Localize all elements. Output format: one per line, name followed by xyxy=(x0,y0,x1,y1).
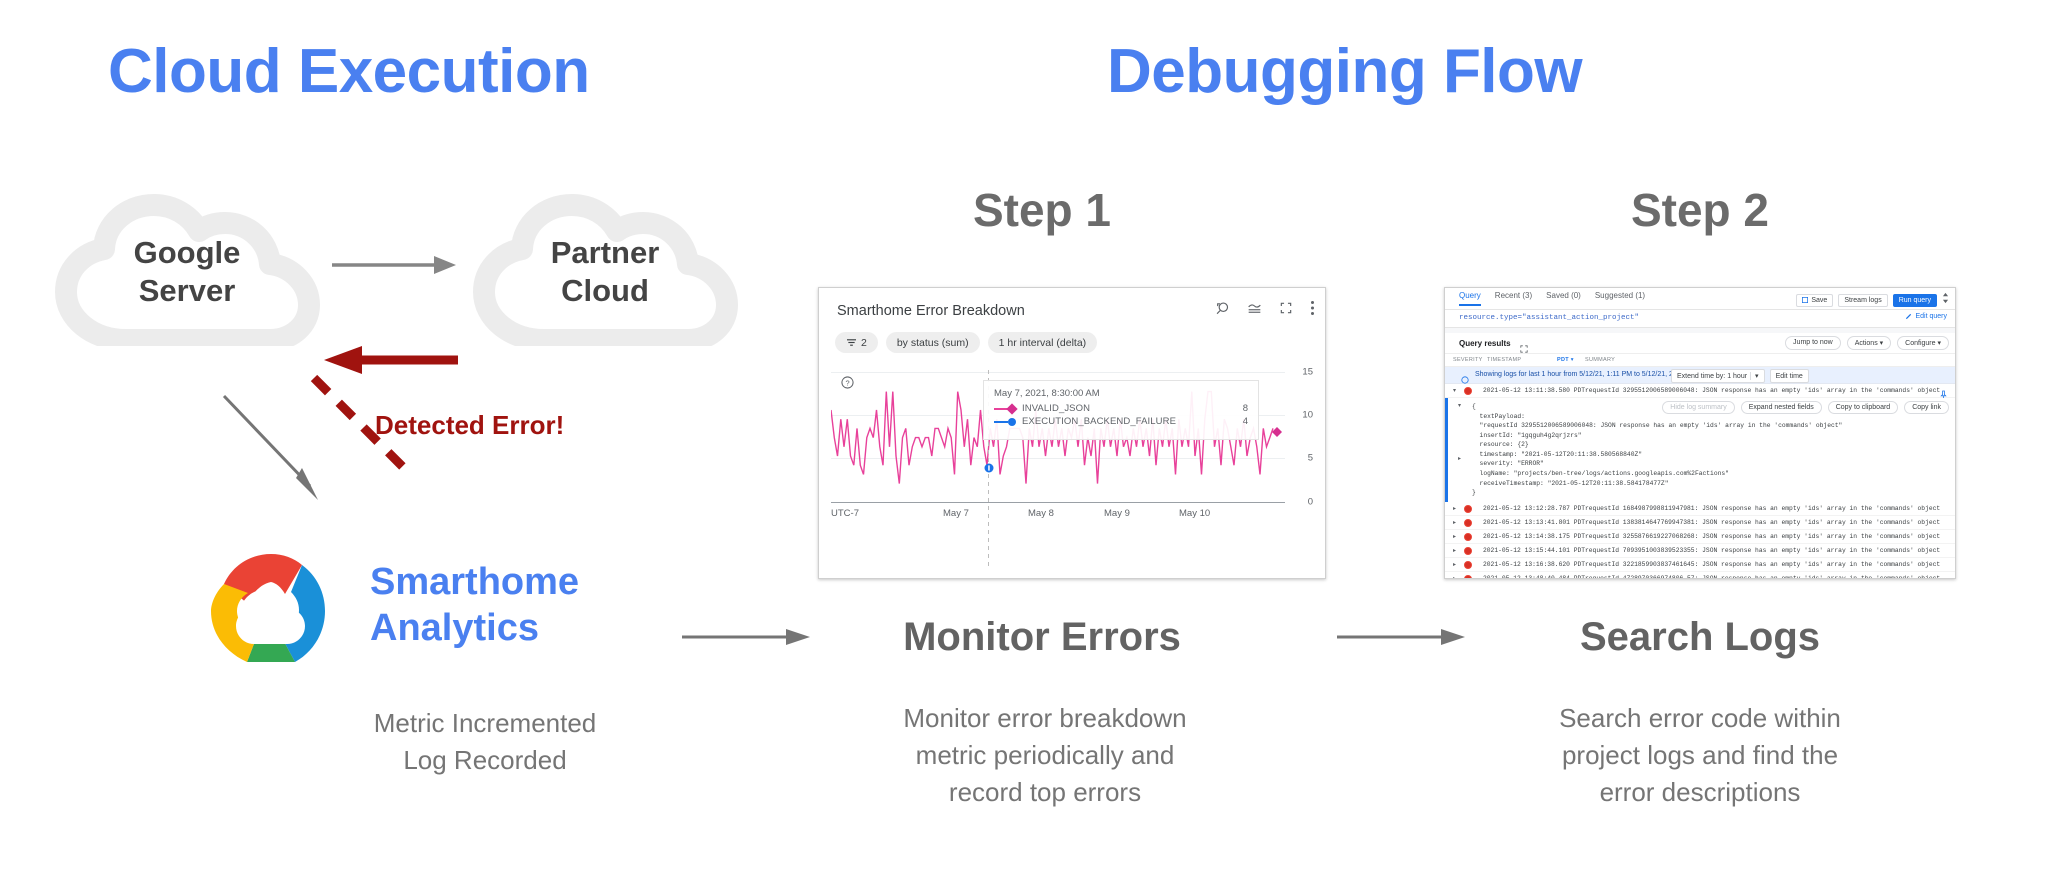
query-results-actions: Jump to now Actions ▾ Configure ▾ xyxy=(1785,336,1949,350)
arrow-analytics-to-monitor xyxy=(680,625,815,649)
node-1-caption-line2: Log Recorded xyxy=(300,742,670,779)
chart-point-execution-backend-failure xyxy=(983,462,995,474)
save-button-label: Save xyxy=(1811,297,1827,304)
edit-query-button[interactable]: Edit query xyxy=(1905,313,1947,320)
chip-interval[interactable]: 1 hr interval (delta) xyxy=(988,332,1098,353)
chevron-right-icon[interactable]: ▸ xyxy=(1453,547,1456,554)
step-2-heading: Step 2 xyxy=(1570,183,1830,237)
node-1-title-line2: Analytics xyxy=(370,606,579,652)
partner-cloud-line2: Cloud xyxy=(561,272,649,310)
reset-zoom-icon[interactable] xyxy=(1215,301,1230,316)
partner-cloud-line1: Partner xyxy=(551,234,660,272)
y-tick-0: 0 xyxy=(1308,497,1313,508)
filter-icon xyxy=(846,338,857,347)
log-detail-json: { textPayload: "requestId 32955120065890… xyxy=(1448,402,1955,498)
actions-dropdown[interactable]: Actions ▾ xyxy=(1847,336,1891,350)
x-tick-utc: UTC-7 xyxy=(831,508,859,519)
edit-query-label: Edit query xyxy=(1915,313,1947,320)
edit-time-button[interactable]: Edit time xyxy=(1770,369,1809,383)
resource-expand-toggle[interactable]: ▸ xyxy=(1458,455,1461,462)
partner-cloud-label: Partner Cloud xyxy=(470,194,740,346)
chevron-right-icon[interactable]: ▸ xyxy=(1453,575,1456,579)
x-tick-may-9: May 9 xyxy=(1104,508,1130,519)
query-text: resource.type="assistant_action_project" xyxy=(1459,314,1639,322)
chevron-right-icon[interactable]: ▸ xyxy=(1453,533,1456,540)
partner-cloud-cloud: Partner Cloud xyxy=(470,194,740,346)
node-3-caption: Search error code within project logs an… xyxy=(1515,700,1885,811)
chevron-down-icon: ▾ xyxy=(1937,340,1941,347)
severity-error-icon xyxy=(1464,575,1472,579)
logs-tabbar: Query Recent (3) Saved (0) Suggested (1)… xyxy=(1445,288,1955,310)
json-collapse-toggle[interactable]: ▾ xyxy=(1458,402,1461,409)
configure-dropdown[interactable]: Configure ▾ xyxy=(1897,336,1949,350)
severity-error-icon xyxy=(1464,533,1472,541)
tooltip-value-execution-backend-failure: 4 xyxy=(1232,416,1248,427)
chart-title: Smarthome Error Breakdown xyxy=(837,303,1025,319)
tooltip-name-execution-backend-failure: EXECUTION_BACKEND_FAILURE xyxy=(1022,416,1232,427)
banner-buttons: Extend time by: 1 hour ▾ Edit time xyxy=(1671,369,1809,383)
save-icon xyxy=(1802,297,1808,303)
severity-error-icon xyxy=(1464,387,1472,395)
query-results-bar: Query results Jump to now Actions ▾ Conf… xyxy=(1445,333,1955,354)
log-detail-actions: Hide log summary Expand nested fields Co… xyxy=(1662,401,1949,414)
google-server-line2: Server xyxy=(139,272,236,310)
table-row[interactable]: ▸2021-05-12 13:12:28.787 PDTrequestId 16… xyxy=(1445,502,1955,516)
table-row[interactable]: ▸2021-05-12 13:13:41.801 PDTrequestId 13… xyxy=(1445,516,1955,530)
tab-recent[interactable]: Recent (3) xyxy=(1495,291,1532,306)
chevron-down-icon: ▾ xyxy=(1880,340,1884,347)
severity-error-icon xyxy=(1464,519,1472,527)
node-2-caption-line1: Monitor error breakdown xyxy=(860,700,1230,737)
google-server-line1: Google xyxy=(134,234,241,272)
jump-to-now-button[interactable]: Jump to now xyxy=(1785,336,1841,350)
save-button[interactable]: Save xyxy=(1796,294,1833,307)
table-row[interactable]: ▸2021-05-12 13:14:38.175 PDTrequestId 32… xyxy=(1445,530,1955,544)
column-severity: SEVERITY xyxy=(1453,357,1483,363)
log-table-column-headers: SEVERITY TIMESTAMP PDT ▾ SUMMARY xyxy=(1445,354,1955,367)
table-row[interactable]: ▸2021-05-12 13:16:38.620 PDTrequestId 32… xyxy=(1445,558,1955,572)
log-summary: requestId 3295512006589006048: JSON resp… xyxy=(1585,387,1940,394)
more-options-icon[interactable] xyxy=(1310,300,1315,316)
severity-error-icon xyxy=(1464,505,1472,513)
page-title-cloud-execution: Cloud Execution xyxy=(108,36,590,107)
logs-action-buttons: Save Stream logs Run query xyxy=(1796,291,1949,309)
chart-chips: 2 by status (sum) 1 hr interval (delta) xyxy=(835,332,1097,353)
legend-swatch-execution-backend-failure xyxy=(994,417,1016,427)
query-editor-row[interactable]: resource.type="assistant_action_project"… xyxy=(1445,310,1955,328)
severity-error-icon xyxy=(1464,547,1472,555)
google-cloud-logo-icon xyxy=(205,548,337,676)
chip-interval-label: 1 hr interval (delta) xyxy=(999,337,1087,349)
extend-time-button[interactable]: Extend time by: 1 hour ▾ xyxy=(1671,369,1765,383)
tab-query[interactable]: Query xyxy=(1459,291,1481,306)
chart-tooltip: May 7, 2021, 8:30:00 AM INVALID_JSON 8 E… xyxy=(983,380,1259,440)
hide-log-summary-button[interactable]: Hide log summary xyxy=(1662,401,1734,414)
x-axis-line xyxy=(831,502,1285,503)
expand-nested-fields-button[interactable]: Expand nested fields xyxy=(1741,401,1822,414)
chip-filter-count[interactable]: 2 xyxy=(835,332,878,353)
node-1-caption: Metric Incremented Log Recorded xyxy=(300,705,670,779)
google-server-cloud: Google Server xyxy=(52,194,322,346)
log-timestamp: 2021-05-12 13:16:38.620 PDT xyxy=(1483,561,1585,568)
log-timestamp: 2021-05-12 13:12:28.787 PDT xyxy=(1483,505,1585,512)
tooltip-value-invalid-json: 8 xyxy=(1232,403,1248,414)
chevron-right-icon[interactable]: ▸ xyxy=(1453,561,1456,568)
chevron-right-icon[interactable]: ▸ xyxy=(1453,519,1456,526)
node-1-title: Smarthome Analytics xyxy=(370,560,579,651)
log-timestamp: 2021-05-12 13:48:40.484 PDT xyxy=(1483,575,1585,579)
chip-filter-label: 2 xyxy=(861,337,867,349)
arrow-google-to-partner xyxy=(330,250,460,280)
error-breakdown-chart-panel: Smarthome Error Breakdown 2 by status (s… xyxy=(818,287,1326,579)
log-detail-expanded: ▾ ▸ Hide log summary Expand nested field… xyxy=(1445,398,1955,502)
collapse-icon[interactable] xyxy=(1942,291,1949,309)
log-rows-list: ▸2021-05-12 13:12:28.787 PDTrequestId 16… xyxy=(1445,502,1955,579)
log-timestamp: 2021-05-12 13:11:38.580 PDT xyxy=(1483,387,1585,394)
chip-group-by-label: by status (sum) xyxy=(897,337,969,349)
log-summary: requestId 4728970366974806 57: JSON resp… xyxy=(1585,575,1940,579)
chip-group-by[interactable]: by status (sum) xyxy=(886,332,980,353)
y-tick-5: 5 xyxy=(1308,453,1313,464)
detected-error-label: Detected Error! xyxy=(375,410,564,441)
pencil-icon xyxy=(1905,313,1912,320)
table-row-selected[interactable]: ▾ 2021-05-12 13:11:38.580 PDT requestId … xyxy=(1445,384,1955,398)
y-tick-15: 15 xyxy=(1302,367,1313,378)
x-tick-may-10: May 10 xyxy=(1179,508,1210,519)
tab-saved[interactable]: Saved (0) xyxy=(1546,291,1581,306)
node-2-caption: Monitor error breakdown metric periodica… xyxy=(860,700,1230,811)
chevron-right-icon[interactable]: ▸ xyxy=(1453,505,1456,512)
chevron-down-icon: ▾ xyxy=(1750,372,1759,380)
google-server-label: Google Server xyxy=(52,194,322,346)
log-timestamp: 2021-05-12 13:15:44.101 PDT xyxy=(1483,547,1585,554)
chevron-down-icon[interactable]: ▾ xyxy=(1453,387,1456,394)
query-results-title: Query results xyxy=(1459,339,1511,348)
node-1-title-line1: Smarthome xyxy=(370,560,579,606)
log-summary: requestId 3255876619227068268: JSON resp… xyxy=(1585,533,1940,540)
logs-tabs: Query Recent (3) Saved (0) Suggested (1) xyxy=(1459,291,1645,306)
log-summary: requestId 1684987998811947981: JSON resp… xyxy=(1585,505,1940,512)
tab-suggested[interactable]: Suggested (1) xyxy=(1595,291,1645,306)
column-summary: SUMMARY xyxy=(1585,357,1615,363)
column-timestamp: TIMESTAMP xyxy=(1487,357,1521,363)
chart-plot-area: ? 15 10 5 0 May 7, 2021, 8:30:00 AM xyxy=(831,364,1313,570)
step-1-heading: Step 1 xyxy=(912,183,1172,237)
page-title-debugging-flow: Debugging Flow xyxy=(1107,36,1582,107)
tooltip-name-invalid-json: INVALID_JSON xyxy=(1022,403,1232,414)
node-3-title: Search Logs xyxy=(1550,615,1850,660)
node-3-caption-line1: Search error code within xyxy=(1515,700,1885,737)
logs-explorer-panel: Query Recent (3) Saved (0) Suggested (1)… xyxy=(1444,287,1956,579)
chart-point-invalid-json xyxy=(1271,426,1283,438)
run-query-button[interactable]: Run query xyxy=(1893,294,1937,307)
node-3-caption-line2: project logs and find the xyxy=(1515,737,1885,774)
log-summary: requestId 3221859903837461645: JSON resp… xyxy=(1585,561,1940,568)
x-tick-may-7: May 7 xyxy=(943,508,969,519)
log-timestamp: 2021-05-12 13:14:38.175 PDT xyxy=(1483,533,1585,540)
node-1-caption-line1: Metric Incremented xyxy=(300,705,670,742)
node-2-caption-line3: record top errors xyxy=(860,774,1230,811)
x-tick-may-8: May 8 xyxy=(1028,508,1054,519)
node-2-title: Monitor Errors xyxy=(892,615,1192,660)
log-timestamp: 2021-05-12 13:13:41.801 PDT xyxy=(1483,519,1585,526)
node-3-caption-line3: error descriptions xyxy=(1515,774,1885,811)
y-tick-10: 10 xyxy=(1302,410,1313,421)
chart-type-icon[interactable] xyxy=(1247,301,1262,316)
copy-link-button[interactable]: Copy link xyxy=(1904,401,1949,414)
stream-logs-button[interactable]: Stream logs xyxy=(1838,294,1887,307)
log-summary: requestId 7093951003839523355: JSON resp… xyxy=(1585,547,1940,554)
arrow-monitor-to-search xyxy=(1335,625,1470,649)
table-row[interactable]: ▸2021-05-12 13:15:44.101 PDTrequestId 70… xyxy=(1445,544,1955,558)
tooltip-row-execution-backend-failure: EXECUTION_BACKEND_FAILURE 4 xyxy=(994,416,1248,427)
timezone-dropdown[interactable]: PDT ▾ xyxy=(1557,357,1574,363)
arrow-google-to-analytics xyxy=(218,390,338,515)
tooltip-timestamp: May 7, 2021, 8:30:00 AM xyxy=(994,388,1248,399)
node-2-caption-line2: metric periodically and xyxy=(860,737,1230,774)
copy-to-clipboard-button[interactable]: Copy to clipboard xyxy=(1828,401,1898,414)
table-row[interactable]: ▸2021-05-12 13:48:40.484 PDTrequestId 47… xyxy=(1445,572,1955,579)
chart-toolbar xyxy=(1215,300,1315,316)
severity-error-icon xyxy=(1464,561,1472,569)
legend-swatch-invalid-json xyxy=(994,404,1016,414)
time-range-banner: Showing logs for last 1 hour from 5/12/2… xyxy=(1445,367,1955,384)
log-summary: requestId 1383814647769947381: JSON resp… xyxy=(1585,519,1940,526)
banner-text: Showing logs for last 1 hour from 5/12/2… xyxy=(1475,371,1697,378)
fullscreen-icon[interactable] xyxy=(1279,301,1293,315)
tooltip-row-invalid-json: INVALID_JSON 8 xyxy=(994,403,1248,414)
